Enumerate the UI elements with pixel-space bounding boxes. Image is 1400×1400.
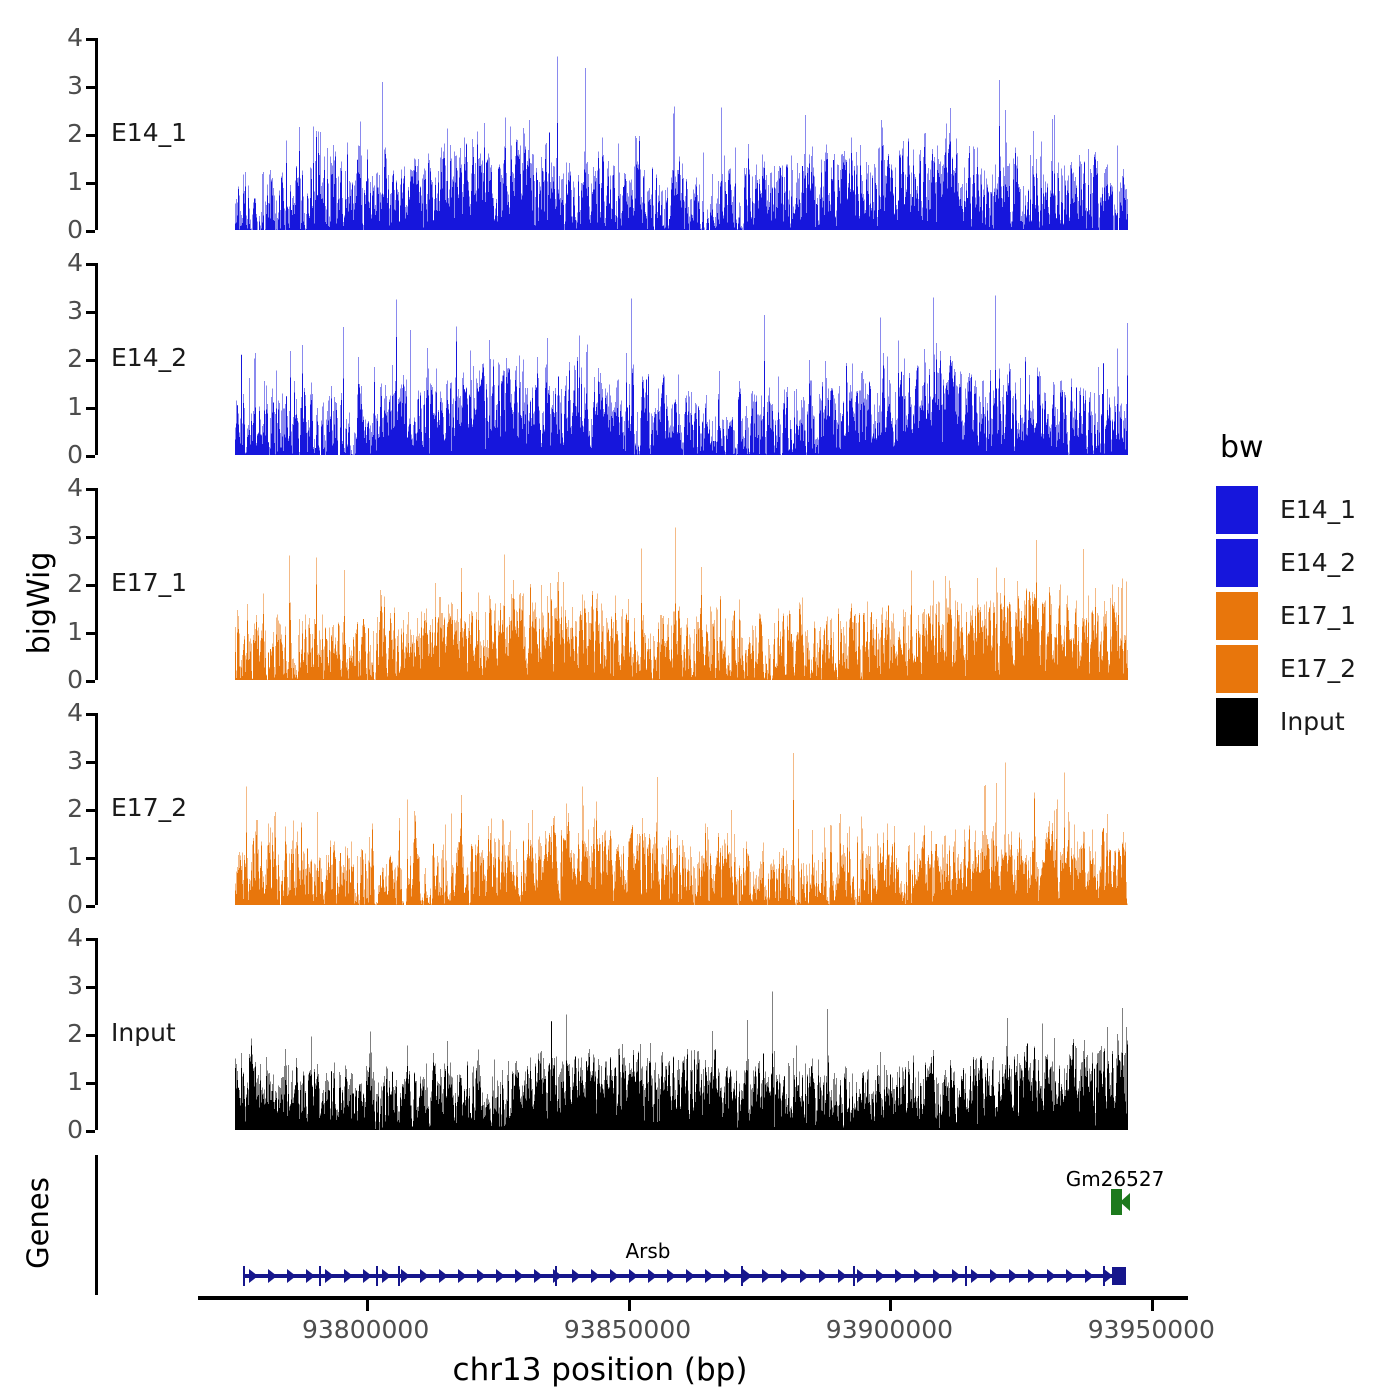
genes-axis-title: Genes [20, 1123, 56, 1323]
gene-direction-arrow-icon [819, 1269, 828, 1283]
track-label-e14_1: E14_1 [111, 118, 187, 147]
y-tick [86, 263, 95, 266]
y-tick-label: 2 [67, 121, 83, 146]
y-axis-line [95, 38, 98, 230]
y-tick [86, 38, 95, 41]
gene-direction-arrow-icon [1066, 1269, 1075, 1283]
gene-exon-boundary [965, 1266, 967, 1286]
gene-direction-arrow-icon [401, 1269, 410, 1283]
signal-plot-input [235, 938, 1128, 1130]
y-tick [86, 857, 95, 860]
x-tick-label: 93950000 [1088, 1315, 1215, 1344]
gene-direction-arrow-icon [325, 1269, 334, 1283]
gene-direction-arrow-icon [249, 1269, 258, 1283]
legend-label-e14_1: E14_1 [1280, 495, 1356, 524]
gene-direction-arrow-icon [971, 1269, 980, 1283]
signal-plot-e17_2 [235, 713, 1128, 905]
gene-direction-arrow-icon [667, 1269, 676, 1283]
gene-direction-arrow-icon [705, 1269, 714, 1283]
gene-direction-arrow-icon [914, 1269, 923, 1283]
gene-direction-arrow-icon [1047, 1269, 1056, 1283]
legend-label-input: Input [1280, 707, 1345, 736]
gene-direction-arrow-icon [458, 1269, 467, 1283]
gene-direction-arrow-icon [629, 1269, 638, 1283]
y-axis-line [95, 488, 98, 680]
y-tick-label: 2 [67, 1021, 83, 1046]
y-tick [86, 1082, 95, 1085]
gene-exon-boundary [376, 1266, 378, 1286]
gene-exon-boundary [1103, 1266, 1105, 1286]
gene-direction-arrow-icon [933, 1269, 942, 1283]
track-panel-input: 43210Input [95, 938, 1128, 1130]
y-tick [86, 182, 95, 185]
bigwig-axis-title: bigWig [22, 503, 58, 703]
genes-axis-line [95, 1155, 98, 1295]
x-axis-title: chr13 position (bp) [0, 1352, 1200, 1388]
gene-strand-arrow-gm26527 [1120, 1193, 1130, 1211]
gene-direction-arrow-icon [306, 1269, 315, 1283]
gene-direction-arrow-icon [781, 1269, 790, 1283]
gene-direction-arrow-icon [534, 1269, 543, 1283]
gene-direction-arrow-icon [1085, 1269, 1094, 1283]
gene-direction-arrow-icon [382, 1269, 391, 1283]
gene-direction-arrow-icon [591, 1269, 600, 1283]
y-axis-line [95, 938, 98, 1130]
gene-direction-arrow-icon [1009, 1269, 1018, 1283]
gene-direction-arrow-icon [724, 1269, 733, 1283]
signal-plot-e14_1 [235, 38, 1128, 230]
y-tick [86, 584, 95, 587]
gene-direction-arrow-icon [363, 1269, 372, 1283]
y-tick [86, 359, 95, 362]
genes-track: Gm26527 Arsb [235, 1155, 1128, 1295]
gene-direction-arrow-icon [952, 1269, 961, 1283]
track-label-input: Input [111, 1018, 176, 1047]
gene-direction-arrow-icon [1028, 1269, 1037, 1283]
y-tick-label: 2 [67, 571, 83, 596]
y-tick-label: 3 [67, 973, 83, 998]
gene-direction-arrow-icon [287, 1269, 296, 1283]
track-panel-e14_2: 43210E14_2 [95, 263, 1128, 455]
y-tick-label: 3 [67, 523, 83, 548]
y-tick-label: 3 [67, 73, 83, 98]
gene-direction-arrow-icon [420, 1269, 429, 1283]
legend-items: E14_1E14_2E17_1E17_2Input [1216, 483, 1356, 748]
track-panel-e17_1: 43210E17_1 [95, 488, 1128, 680]
y-tick-label: 3 [67, 298, 83, 323]
y-tick-label: 1 [67, 1069, 83, 1094]
gene-direction-arrow-icon [496, 1269, 505, 1283]
gene-direction-arrow-icon [838, 1269, 847, 1283]
y-tick [86, 680, 95, 683]
gene-direction-arrow-icon [344, 1269, 353, 1283]
gene-exon-boundary [741, 1266, 743, 1286]
y-tick [86, 713, 95, 716]
x-tick [366, 1300, 369, 1311]
legend-swatch-e14_2 [1216, 539, 1258, 587]
gene-direction-arrow-icon [268, 1269, 277, 1283]
y-tick [86, 311, 95, 314]
y-tick [86, 536, 95, 539]
gene-direction-arrow-icon [686, 1269, 695, 1283]
gene-direction-arrow-icon [572, 1269, 581, 1283]
track-label-e17_1: E17_1 [111, 568, 187, 597]
x-axis-line [198, 1296, 1188, 1300]
y-tick-label: 4 [67, 25, 83, 50]
y-axis-line [95, 263, 98, 455]
gene-direction-arrow-icon [477, 1269, 486, 1283]
signal-plot-e14_2 [235, 263, 1128, 455]
legend-label-e17_2: E17_2 [1280, 654, 1356, 683]
legend-item-e14_2[interactable]: E14_2 [1216, 536, 1356, 589]
y-tick [86, 938, 95, 941]
y-tick [86, 1034, 95, 1037]
y-axis-line [95, 713, 98, 905]
gene-direction-arrow-icon [990, 1269, 999, 1283]
legend-item-input[interactable]: Input [1216, 695, 1356, 748]
x-tick-label: 93900000 [826, 1315, 953, 1344]
x-tick-label: 93800000 [302, 1315, 429, 1344]
gene-label-gm26527: Gm26527 [1066, 1167, 1165, 1191]
y-tick [86, 761, 95, 764]
x-tick [1151, 1300, 1154, 1311]
x-tick-label: 93850000 [564, 1315, 691, 1344]
gene-direction-arrow-icon [610, 1269, 619, 1283]
track-panel-e14_1: 43210E14_1 [95, 38, 1128, 230]
gene-direction-arrow-icon [743, 1269, 752, 1283]
y-tick-label: 0 [67, 217, 83, 242]
y-tick-label: 0 [67, 1117, 83, 1142]
legend-swatch-e17_1 [1216, 592, 1258, 640]
gene-direction-arrow-icon [895, 1269, 904, 1283]
gene-direction-arrow-icon [762, 1269, 771, 1283]
y-tick-label: 3 [67, 748, 83, 773]
legend-item-e17_2[interactable]: E17_2 [1216, 642, 1356, 695]
gene-arsb[interactable]: Arsb [235, 1263, 1128, 1289]
legend-swatch-e17_2 [1216, 645, 1258, 693]
genome-browser-figure: bigWig Genes 43210E14_143210E14_243210E1… [0, 0, 1400, 1400]
y-tick [86, 230, 95, 233]
track-panel-e17_2: 43210E17_2 [95, 713, 1128, 905]
gene-direction-arrow-icon [857, 1269, 866, 1283]
y-tick-label: 4 [67, 925, 83, 950]
legend-swatch-input [1216, 698, 1258, 746]
gene-label-arsb: Arsb [625, 1239, 670, 1263]
legend-label-e17_1: E17_1 [1280, 601, 1356, 630]
x-tick [628, 1300, 631, 1311]
gene-tss-marker-arsb [243, 1266, 245, 1286]
y-tick-label: 0 [67, 667, 83, 692]
y-tick-label: 1 [67, 844, 83, 869]
y-tick [86, 905, 95, 908]
legend-label-e14_2: E14_2 [1280, 548, 1356, 577]
y-tick-label: 0 [67, 892, 83, 917]
y-tick-label: 4 [67, 475, 83, 500]
y-tick-label: 4 [67, 700, 83, 725]
signal-plot-e17_1 [235, 488, 1128, 680]
gene-exon-boundary [555, 1266, 557, 1286]
y-tick-label: 1 [67, 619, 83, 644]
x-tick [889, 1300, 892, 1311]
y-tick [86, 809, 95, 812]
gene-exon-boundary [853, 1266, 855, 1286]
gene-exon-boundary [319, 1266, 321, 1286]
y-tick [86, 455, 95, 458]
gene-direction-arrow-icon [648, 1269, 657, 1283]
track-label-e17_2: E17_2 [111, 793, 187, 822]
y-tick [86, 134, 95, 137]
gene-direction-arrow-icon [800, 1269, 809, 1283]
legend-swatch-e14_1 [1216, 486, 1258, 534]
y-tick [86, 986, 95, 989]
legend: bw E14_1E14_2E17_1E17_2Input [1216, 430, 1356, 748]
legend-title: bw [1220, 430, 1356, 465]
y-tick [86, 407, 95, 410]
y-tick-label: 0 [67, 442, 83, 467]
y-tick-label: 4 [67, 250, 83, 275]
y-tick [86, 632, 95, 635]
y-tick-label: 2 [67, 796, 83, 821]
legend-item-e17_1[interactable]: E17_1 [1216, 589, 1356, 642]
gene-direction-arrow-icon [515, 1269, 524, 1283]
y-tick [86, 86, 95, 89]
gene-exon-arsb-3prime [1112, 1267, 1126, 1285]
gene-direction-arrow-icon [876, 1269, 885, 1283]
y-tick-label: 2 [67, 346, 83, 371]
gene-direction-arrow-icon [439, 1269, 448, 1283]
y-tick-label: 1 [67, 394, 83, 419]
y-tick [86, 1130, 95, 1133]
legend-item-e14_1[interactable]: E14_1 [1216, 483, 1356, 536]
y-tick-label: 1 [67, 169, 83, 194]
y-tick [86, 488, 95, 491]
track-label-e14_2: E14_2 [111, 343, 187, 372]
gene-exon-boundary [398, 1266, 400, 1286]
